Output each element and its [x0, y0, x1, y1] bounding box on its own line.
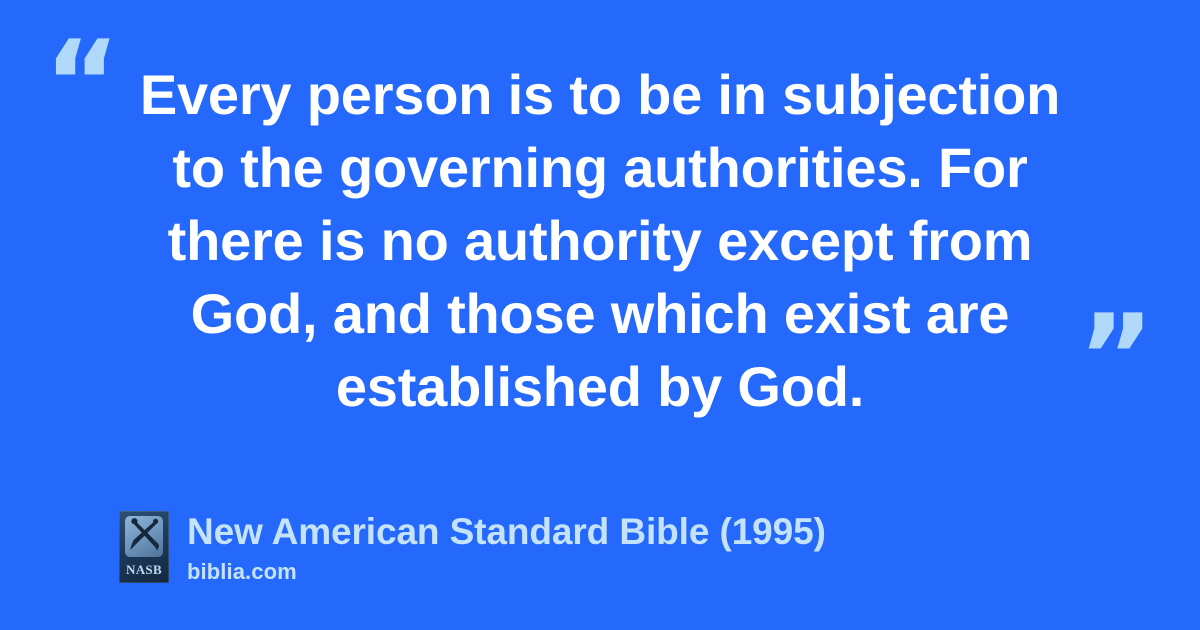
quote-card: “ Every person is to be in subjection to…	[0, 0, 1200, 630]
close-quote-icon: ”	[1078, 300, 1154, 416]
quote-block: “ Every person is to be in subjection to…	[0, 0, 1200, 440]
open-quote-icon: “	[44, 26, 120, 142]
attribution: NASB New American Standard Bible (1995) …	[119, 511, 826, 585]
attribution-text: New American Standard Bible (1995) bibli…	[187, 511, 826, 585]
source-site-link[interactable]: biblia.com	[187, 559, 826, 585]
source-name: New American Standard Bible (1995)	[187, 511, 826, 553]
nasb-logo-emblem-icon	[125, 516, 163, 557]
nasb-logo-wordmark: NASB	[119, 562, 169, 578]
nasb-logo: NASB	[119, 511, 169, 583]
quote-text: Every person is to be in subjection to t…	[120, 58, 1080, 423]
